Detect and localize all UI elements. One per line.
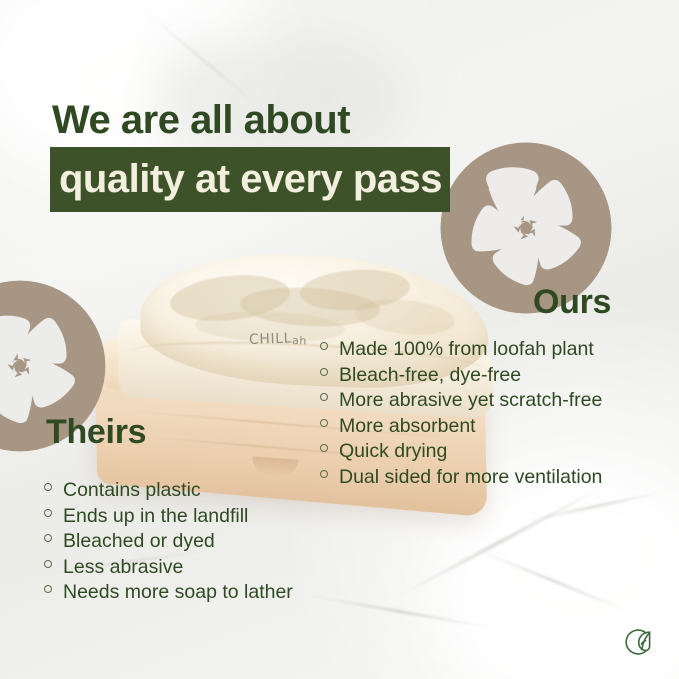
bullet-circle-icon	[44, 534, 52, 542]
bullet-circle-icon	[320, 393, 328, 401]
list-item-label: Less abrasive	[63, 555, 183, 581]
bullet-circle-icon	[320, 368, 328, 376]
product-tag-main: CHILL	[249, 331, 293, 348]
list-item-label: Bleach-free, dye-free	[339, 363, 521, 389]
list-item-label: Bleached or dyed	[63, 529, 215, 555]
bullet-circle-icon	[320, 419, 328, 427]
list-item: Dual sided for more ventilation	[320, 465, 602, 491]
headline: We are all about quality at every pass	[50, 100, 450, 212]
list-item-label: Needs more soap to lather	[63, 580, 293, 606]
list-item-label: Contains plastic	[63, 478, 201, 504]
list-item: Contains plastic	[44, 478, 293, 504]
bullet-circle-icon	[44, 560, 52, 568]
bullet-circle-icon	[320, 342, 328, 350]
list-item-label: More absorbent	[339, 414, 476, 440]
list-item: Made 100% from loofah plant	[320, 337, 602, 363]
list-item: More abrasive yet scratch-free	[320, 388, 602, 414]
bullet-circle-icon	[44, 585, 52, 593]
bullet-circle-icon	[320, 470, 328, 478]
list-item: Needs more soap to lather	[44, 580, 293, 606]
list-item: Bleach-free, dye-free	[320, 363, 602, 389]
column-heading-theirs: Theirs	[46, 413, 146, 452]
list-item-label: Dual sided for more ventilation	[339, 465, 602, 491]
list-item-label: Ends up in the landfill	[63, 504, 248, 530]
list-item: Quick drying	[320, 439, 602, 465]
list-item: Ends up in the landfill	[44, 504, 293, 530]
list-item-label: More abrasive yet scratch-free	[339, 388, 602, 414]
feature-list-theirs: Contains plastic Ends up in the landfill…	[44, 478, 293, 606]
product-brand-tag: CHILLah	[249, 330, 307, 348]
bullet-circle-icon	[44, 509, 52, 517]
infographic-canvas: CHILLah	[0, 0, 679, 679]
list-item-label: Quick drying	[339, 439, 447, 465]
headline-line-1: We are all about	[52, 100, 450, 140]
bullet-circle-icon	[320, 444, 328, 452]
list-item: Bleached or dyed	[44, 529, 293, 555]
product-tag-sub: ah	[292, 334, 307, 348]
list-item: More absorbent	[320, 414, 602, 440]
bullet-circle-icon	[44, 483, 52, 491]
list-item: Less abrasive	[44, 555, 293, 581]
headline-line-2-highlighted: quality at every pass	[50, 147, 450, 212]
brand-logo-icon	[623, 625, 657, 659]
column-heading-ours: Ours	[533, 283, 611, 322]
feature-list-ours: Made 100% from loofah plant Bleach-free,…	[320, 337, 602, 490]
list-item-label: Made 100% from loofah plant	[339, 337, 594, 363]
